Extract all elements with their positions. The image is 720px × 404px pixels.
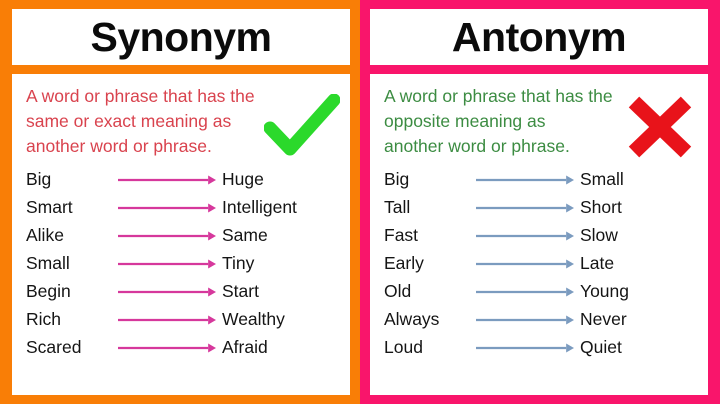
pair-source-word: Smart bbox=[26, 199, 112, 217]
pair-source-word: Early bbox=[384, 255, 470, 273]
pair-source-word: Old bbox=[384, 283, 470, 301]
pair-target-word: Late bbox=[580, 255, 698, 273]
synonym-definition-line-2: same or exact meaning as bbox=[26, 109, 298, 134]
synonym-definition: A word or phrase that has the same or ex… bbox=[12, 84, 310, 159]
list-item: Smart Intelligent bbox=[26, 194, 340, 222]
list-item: Tall Short bbox=[384, 194, 698, 222]
list-item: Big Small bbox=[384, 166, 698, 194]
synonym-definition-line-3: another word or phrase. bbox=[26, 134, 298, 159]
pair-target-word: Wealthy bbox=[222, 311, 340, 329]
pair-target-word: Quiet bbox=[580, 339, 698, 357]
antonym-definition-line-3: another word or phrase. bbox=[384, 134, 656, 159]
antonym-definition-line-2: opposite meaning as bbox=[384, 109, 656, 134]
pair-target-word: Short bbox=[580, 199, 698, 217]
list-item: Small Tiny bbox=[26, 250, 340, 278]
list-item: Loud Quiet bbox=[384, 334, 698, 362]
arrow-right-icon bbox=[470, 341, 580, 355]
pair-source-word: Scared bbox=[26, 339, 112, 357]
synonym-antonym-infographic: Synonym A word or phrase that has the sa… bbox=[0, 0, 720, 404]
list-item: Always Never bbox=[384, 306, 698, 334]
arrow-right-icon bbox=[470, 201, 580, 215]
arrow-right-icon bbox=[112, 173, 222, 187]
pair-target-word: Small bbox=[580, 171, 698, 189]
pair-target-word: Same bbox=[222, 227, 340, 245]
list-item: Old Young bbox=[384, 278, 698, 306]
list-item: Early Late bbox=[384, 250, 698, 278]
synonym-body: A word or phrase that has the same or ex… bbox=[12, 74, 350, 395]
pair-target-word: Tiny bbox=[222, 255, 340, 273]
antonym-pair-list: Big Small Tall bbox=[370, 166, 708, 362]
arrow-right-icon bbox=[470, 173, 580, 187]
pair-target-word: Young bbox=[580, 283, 698, 301]
pair-target-word: Huge bbox=[222, 171, 340, 189]
arrow-right-icon bbox=[112, 285, 222, 299]
pair-target-word: Afraid bbox=[222, 339, 340, 357]
arrow-right-icon bbox=[470, 257, 580, 271]
pair-target-word: Intelligent bbox=[222, 199, 340, 217]
antonym-definition: A word or phrase that has the opposite m… bbox=[370, 84, 668, 159]
arrow-right-icon bbox=[470, 285, 580, 299]
synonym-title-box: Synonym bbox=[12, 9, 350, 65]
pair-source-word: Fast bbox=[384, 227, 470, 245]
pair-source-word: Big bbox=[26, 171, 112, 189]
antonym-definition-line-1: A word or phrase that has the bbox=[384, 84, 656, 109]
pair-source-word: Tall bbox=[384, 199, 470, 217]
page-title: Synonym bbox=[90, 17, 271, 58]
list-item: Rich Wealthy bbox=[26, 306, 340, 334]
pair-target-word: Start bbox=[222, 283, 340, 301]
pair-source-word: Loud bbox=[384, 339, 470, 357]
pair-source-word: Small bbox=[26, 255, 112, 273]
antonym-body: A word or phrase that has the opposite m… bbox=[370, 74, 708, 395]
list-item: Fast Slow bbox=[384, 222, 698, 250]
pair-source-word: Big bbox=[384, 171, 470, 189]
synonym-panel: Synonym A word or phrase that has the sa… bbox=[0, 0, 360, 404]
arrow-right-icon bbox=[112, 229, 222, 243]
arrow-right-icon bbox=[112, 313, 222, 327]
arrow-right-icon bbox=[470, 313, 580, 327]
synonym-definition-line-1: A word or phrase that has the bbox=[26, 84, 298, 109]
arrow-right-icon bbox=[112, 201, 222, 215]
list-item: Scared Afraid bbox=[26, 334, 340, 362]
arrow-right-icon bbox=[112, 257, 222, 271]
pair-target-word: Never bbox=[580, 311, 698, 329]
arrow-right-icon bbox=[112, 341, 222, 355]
list-item: Begin Start bbox=[26, 278, 340, 306]
list-item: Big Huge bbox=[26, 166, 340, 194]
pair-source-word: Rich bbox=[26, 311, 112, 329]
pair-source-word: Always bbox=[384, 311, 470, 329]
arrow-right-icon bbox=[470, 229, 580, 243]
antonym-panel: Antonym A word or phrase that has the op… bbox=[360, 0, 720, 404]
pair-target-word: Slow bbox=[580, 227, 698, 245]
page-title: Antonym bbox=[452, 17, 626, 58]
pair-source-word: Alike bbox=[26, 227, 112, 245]
pair-source-word: Begin bbox=[26, 283, 112, 301]
antonym-title-box: Antonym bbox=[370, 9, 708, 65]
list-item: Alike Same bbox=[26, 222, 340, 250]
synonym-pair-list: Big Huge Smart bbox=[12, 166, 350, 362]
